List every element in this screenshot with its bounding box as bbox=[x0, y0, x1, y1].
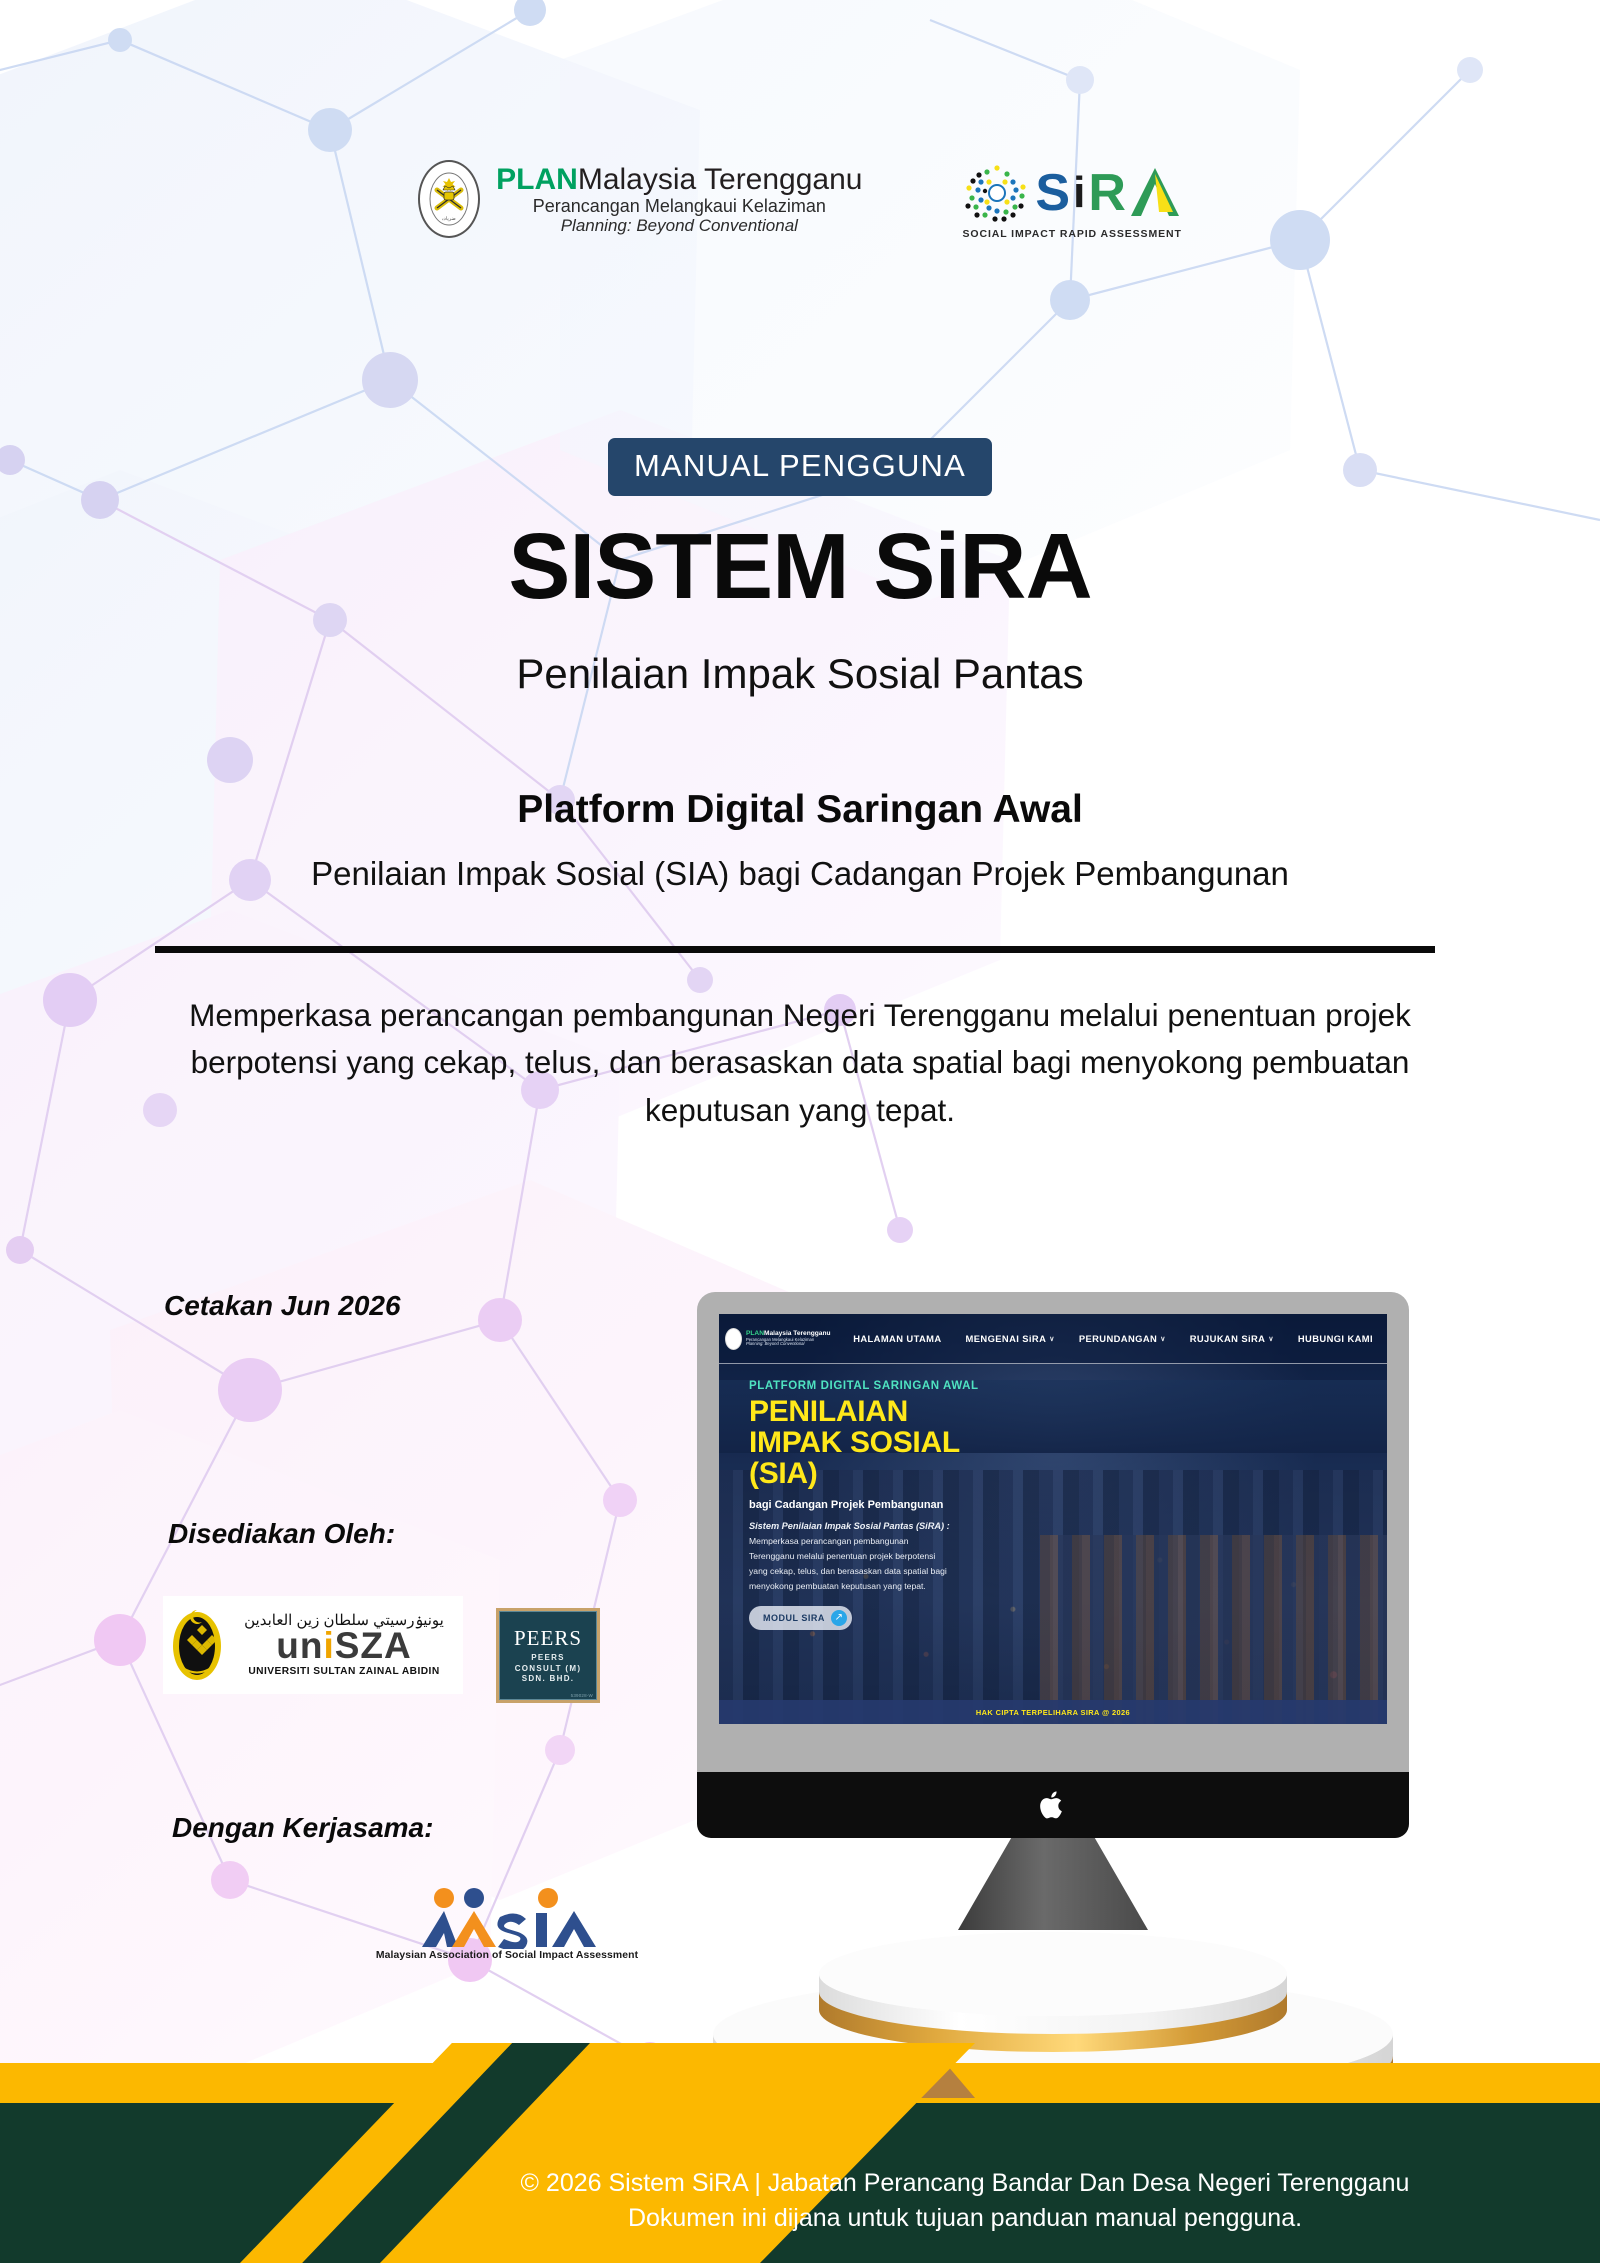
cover-page: ﺿﺮﻳﺎﺩﺑ PLANMalaysia Terengganu Perancang… bbox=[0, 0, 1600, 2263]
footer-line-2: Dokumen ini dijana untuk tujuan panduan … bbox=[628, 2204, 1302, 2233]
hero-body-line1: Memperkasa perancangan pembangunan bbox=[749, 1534, 1079, 1549]
divider-rule bbox=[155, 946, 1435, 953]
page-title: SISTEM SiRA bbox=[0, 518, 1600, 616]
plan-brand-bold: PLAN bbox=[496, 163, 578, 196]
site-copyright-bar: HAK CIPTA TERPELIHARA SIRA @ 2026 bbox=[719, 1700, 1387, 1724]
unisza-acronym-i: i bbox=[323, 1625, 334, 1666]
site-nav-brand[interactable]: PLANMalaysia Terengganu Perancangan Mela… bbox=[731, 1328, 831, 1350]
manual-badge-wrap: MANUAL PENGGUNA bbox=[0, 438, 1600, 496]
nav-item-mengenai-sira[interactable]: MENGENAI SiRA∨ bbox=[966, 1333, 1055, 1344]
site-copyright-text: HAK CIPTA TERPELIHARA SIRA @ 2026 bbox=[976, 1708, 1130, 1717]
nav-label: HUBUNGI KAMI bbox=[1298, 1333, 1373, 1344]
terengganu-state-crest-icon: ﺿﺮﻳﺎﺩﺑ bbox=[418, 160, 480, 238]
sira-letter-i: i bbox=[1073, 171, 1084, 215]
monitor-bezel: PLANMalaysia Terengganu Perancangan Mela… bbox=[697, 1292, 1409, 1772]
collaboration-label: Dengan Kerjasama: bbox=[172, 1812, 433, 1844]
site-hero: PLATFORM DIGITAL SARINGAN AWAL PENILAIAN… bbox=[749, 1380, 1079, 1630]
peers-line2: CONSULT (M) bbox=[515, 1664, 582, 1675]
chevron-down-icon: ∨ bbox=[1160, 1335, 1166, 1343]
hero-title-line2: IMPAK SOSIAL bbox=[749, 1428, 1079, 1459]
nav-item-hubungi-kami[interactable]: HUBUNGI KAMI bbox=[1298, 1333, 1373, 1344]
hero-kicker: PLATFORM DIGITAL SARINGAN AWAL bbox=[749, 1380, 1079, 1392]
nav-crest-icon bbox=[725, 1328, 742, 1350]
nav-label: HALAMAN UTAMA bbox=[853, 1333, 941, 1344]
cover-blurb: Memperkasa perancangan pembangunan Neger… bbox=[170, 992, 1430, 1134]
nav-label: PERUNDANGAN bbox=[1079, 1333, 1157, 1344]
svg-text:ﺿﺮﻳﺎﺩﺑ: ﺿﺮﻳﺎﺩﺑ bbox=[441, 216, 456, 222]
nav-item-halaman-utama[interactable]: HALAMAN UTAMA bbox=[853, 1333, 941, 1344]
hero-title-line3: (SIA) bbox=[749, 1459, 1079, 1490]
footer-line-1: © 2026 Sistem SiRA | Jabatan Perancang B… bbox=[521, 2169, 1410, 2198]
peers-registration-number: 539028-W bbox=[571, 1693, 593, 1698]
prepared-by-label: Disediakan Oleh: bbox=[168, 1518, 395, 1550]
sira-letter-a-icon bbox=[1129, 166, 1181, 220]
unisza-acronym-sza: SZA bbox=[335, 1625, 412, 1666]
nav-brand-bold: PLAN bbox=[746, 1330, 764, 1337]
hero-body: Memperkasa perancangan pembangunan Teren… bbox=[749, 1534, 1079, 1594]
hero-body-line4: menyokong pembuatan keputusan yang tepat… bbox=[749, 1579, 1079, 1594]
header-logo-row: ﺿﺮﻳﺎﺩﺑ PLANMalaysia Terengganu Perancang… bbox=[0, 160, 1600, 290]
hero-italic-line: Sistem Penilaian Impak Sosial Pantas (Si… bbox=[749, 1521, 1079, 1531]
sira-letter-r: R bbox=[1088, 167, 1125, 219]
peers-line3: SDN. BHD. bbox=[515, 1674, 582, 1685]
unisza-logo: يونيۏرسيتي سلطان زين العابدين uniSZA UNI… bbox=[163, 1596, 463, 1694]
plan-tagline-en: Planning: Beyond Conventional bbox=[496, 216, 862, 235]
planmalaysia-logo: ﺿﺮﻳﺎﺩﺑ PLANMalaysia Terengganu Perancang… bbox=[418, 160, 862, 238]
plan-brand-rest: Malaysia Terengganu bbox=[578, 163, 863, 196]
imac-mockup: PLANMalaysia Terengganu Perancangan Mela… bbox=[697, 1292, 1409, 1930]
unisza-crest-icon bbox=[169, 1606, 225, 1684]
hero-subtitle: bagi Cadangan Projek Pembangunan bbox=[749, 1499, 1079, 1511]
website-screenshot: PLANMalaysia Terengganu Perancangan Mela… bbox=[719, 1314, 1387, 1724]
unisza-acronym: uniSZA bbox=[276, 1629, 411, 1663]
modul-sira-label: MODUL SIRA bbox=[763, 1613, 825, 1623]
chevron-down-icon: ∨ bbox=[1268, 1335, 1274, 1343]
hero-body-line2: Terengganu melalui penentuan projek berp… bbox=[749, 1549, 1079, 1564]
hero-title: PENILAIAN IMPAK SOSIAL (SIA) bbox=[749, 1397, 1079, 1490]
section-subtitle: Penilaian Impak Sosial (SIA) bagi Cadang… bbox=[0, 855, 1600, 893]
sira-logo: S i R SOCIAL IMPACT RAPID ASSESSMENT bbox=[962, 160, 1181, 240]
site-navbar: PLANMalaysia Terengganu Perancangan Mela… bbox=[719, 1314, 1387, 1364]
hero-title-line1: PENILAIAN bbox=[749, 1397, 1079, 1428]
hero-body-line3: yang cekap, telus, dan berasaskan data s… bbox=[749, 1564, 1079, 1579]
section-title: Platform Digital Saringan Awal bbox=[0, 788, 1600, 832]
page-footer: © 2026 Sistem SiRA | Jabatan Perancang B… bbox=[0, 2138, 1600, 2263]
modul-sira-button[interactable]: MODUL SIRA ↗ bbox=[749, 1606, 852, 1630]
chevron-down-icon: ∨ bbox=[1049, 1335, 1055, 1343]
unisza-acronym-un: un bbox=[276, 1625, 323, 1666]
peers-logo: PEERS PEERS CONSULT (M) SDN. BHD. 539028… bbox=[496, 1608, 600, 1703]
monitor-chin bbox=[697, 1772, 1409, 1838]
apple-logo-icon bbox=[1039, 1788, 1067, 1822]
sira-letter-s: S bbox=[1035, 167, 1069, 219]
nav-brand-line3: Planning: Beyond Conventional bbox=[746, 1342, 831, 1346]
plan-brand-line: PLANMalaysia Terengganu bbox=[496, 163, 862, 197]
sira-caption: SOCIAL IMPACT RAPID ASSESSMENT bbox=[962, 228, 1181, 240]
sira-dot-spiral-icon bbox=[963, 160, 1031, 226]
manual-badge: MANUAL PENGGUNA bbox=[608, 438, 992, 496]
print-edition-label: Cetakan Jun 2026 bbox=[164, 1290, 401, 1322]
nav-brand-rest: Malaysia Terengganu bbox=[764, 1330, 831, 1337]
nav-item-perundangan[interactable]: PERUNDANGAN∨ bbox=[1079, 1333, 1166, 1344]
nav-label: RUJUKAN SiRA bbox=[1190, 1333, 1266, 1344]
nav-label: MENGENAI SiRA bbox=[966, 1333, 1047, 1344]
peers-title: PEERS bbox=[514, 1626, 582, 1651]
page-subtitle: Penilaian Impak Sosial Pantas bbox=[0, 650, 1600, 698]
nav-item-rujukan-sira[interactable]: RUJUKAN SiRA∨ bbox=[1190, 1333, 1274, 1344]
site-nav-items: HALAMAN UTAMA MENGENAI SiRA∨ PERUNDANGAN… bbox=[831, 1333, 1377, 1344]
arrow-up-right-icon: ↗ bbox=[831, 1610, 847, 1626]
monitor-stand bbox=[697, 1838, 1409, 1930]
peers-line1: PEERS bbox=[515, 1653, 582, 1664]
unisza-full-name: UNIVERSITI SULTAN ZAINAL ABIDIN bbox=[248, 1666, 439, 1677]
plan-tagline-ms: Perancangan Melangkaui Kelaziman bbox=[496, 196, 862, 216]
city-buildings-right bbox=[1040, 1535, 1387, 1724]
